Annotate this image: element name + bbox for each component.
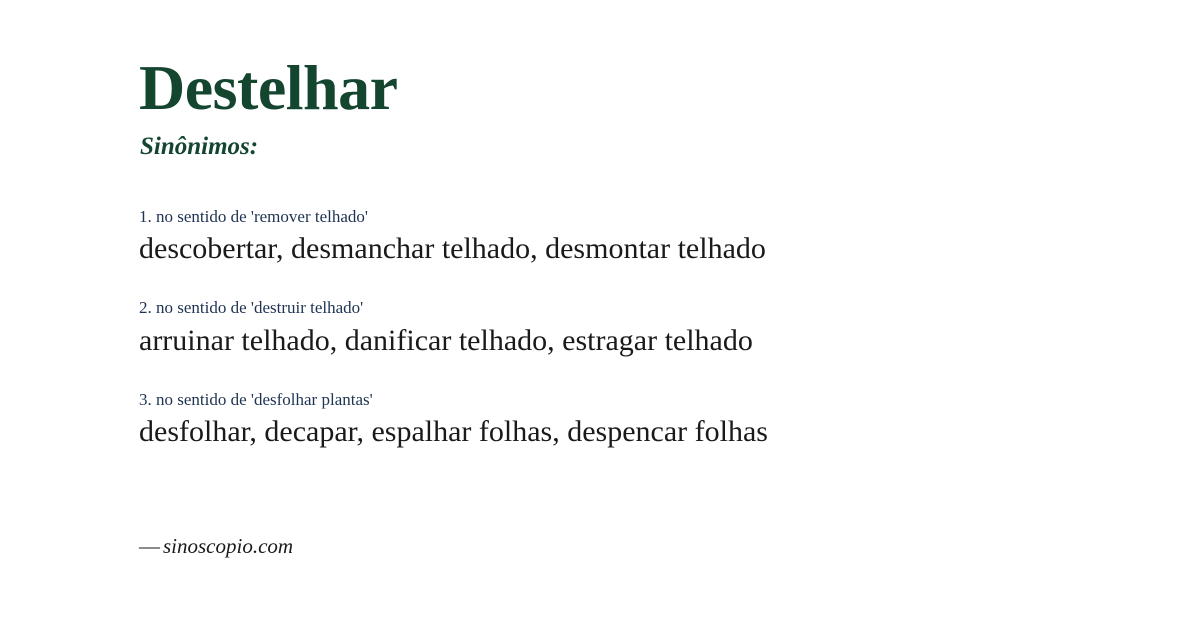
- source-attribution: —sinoscopio.com: [139, 534, 293, 559]
- sense-entry-3: 3. no sentido de 'desfolhar plantas' des…: [139, 389, 1139, 450]
- em-dash-glyph: —: [139, 534, 163, 558]
- synonym-card: Destelhar Sinônimos: 1. no sentido de 'r…: [0, 0, 1200, 628]
- page-title: Destelhar: [139, 56, 398, 120]
- sense-entry-1: 1. no sentido de 'remover telhado' desco…: [139, 206, 1139, 267]
- section-subtitle: Sinônimos:: [140, 133, 258, 161]
- sense-label-3: 3. no sentido de 'desfolhar plantas': [139, 389, 1139, 410]
- sense-entry-2: 2. no sentido de 'destruir telhado' arru…: [139, 297, 1139, 358]
- source-name: sinoscopio.com: [163, 534, 293, 558]
- sense-list: 1. no sentido de 'remover telhado' desco…: [139, 206, 1139, 450]
- sense-synonyms-3: desfolhar, decapar, espalhar folhas, des…: [139, 414, 1139, 450]
- sense-synonyms-2: arruinar telhado, danificar telhado, est…: [139, 323, 1139, 359]
- sense-label-2: 2. no sentido de 'destruir telhado': [139, 297, 1139, 318]
- sense-label-1: 1. no sentido de 'remover telhado': [139, 206, 1139, 227]
- sense-synonyms-1: descobertar, desmanchar telhado, desmont…: [139, 231, 1139, 267]
